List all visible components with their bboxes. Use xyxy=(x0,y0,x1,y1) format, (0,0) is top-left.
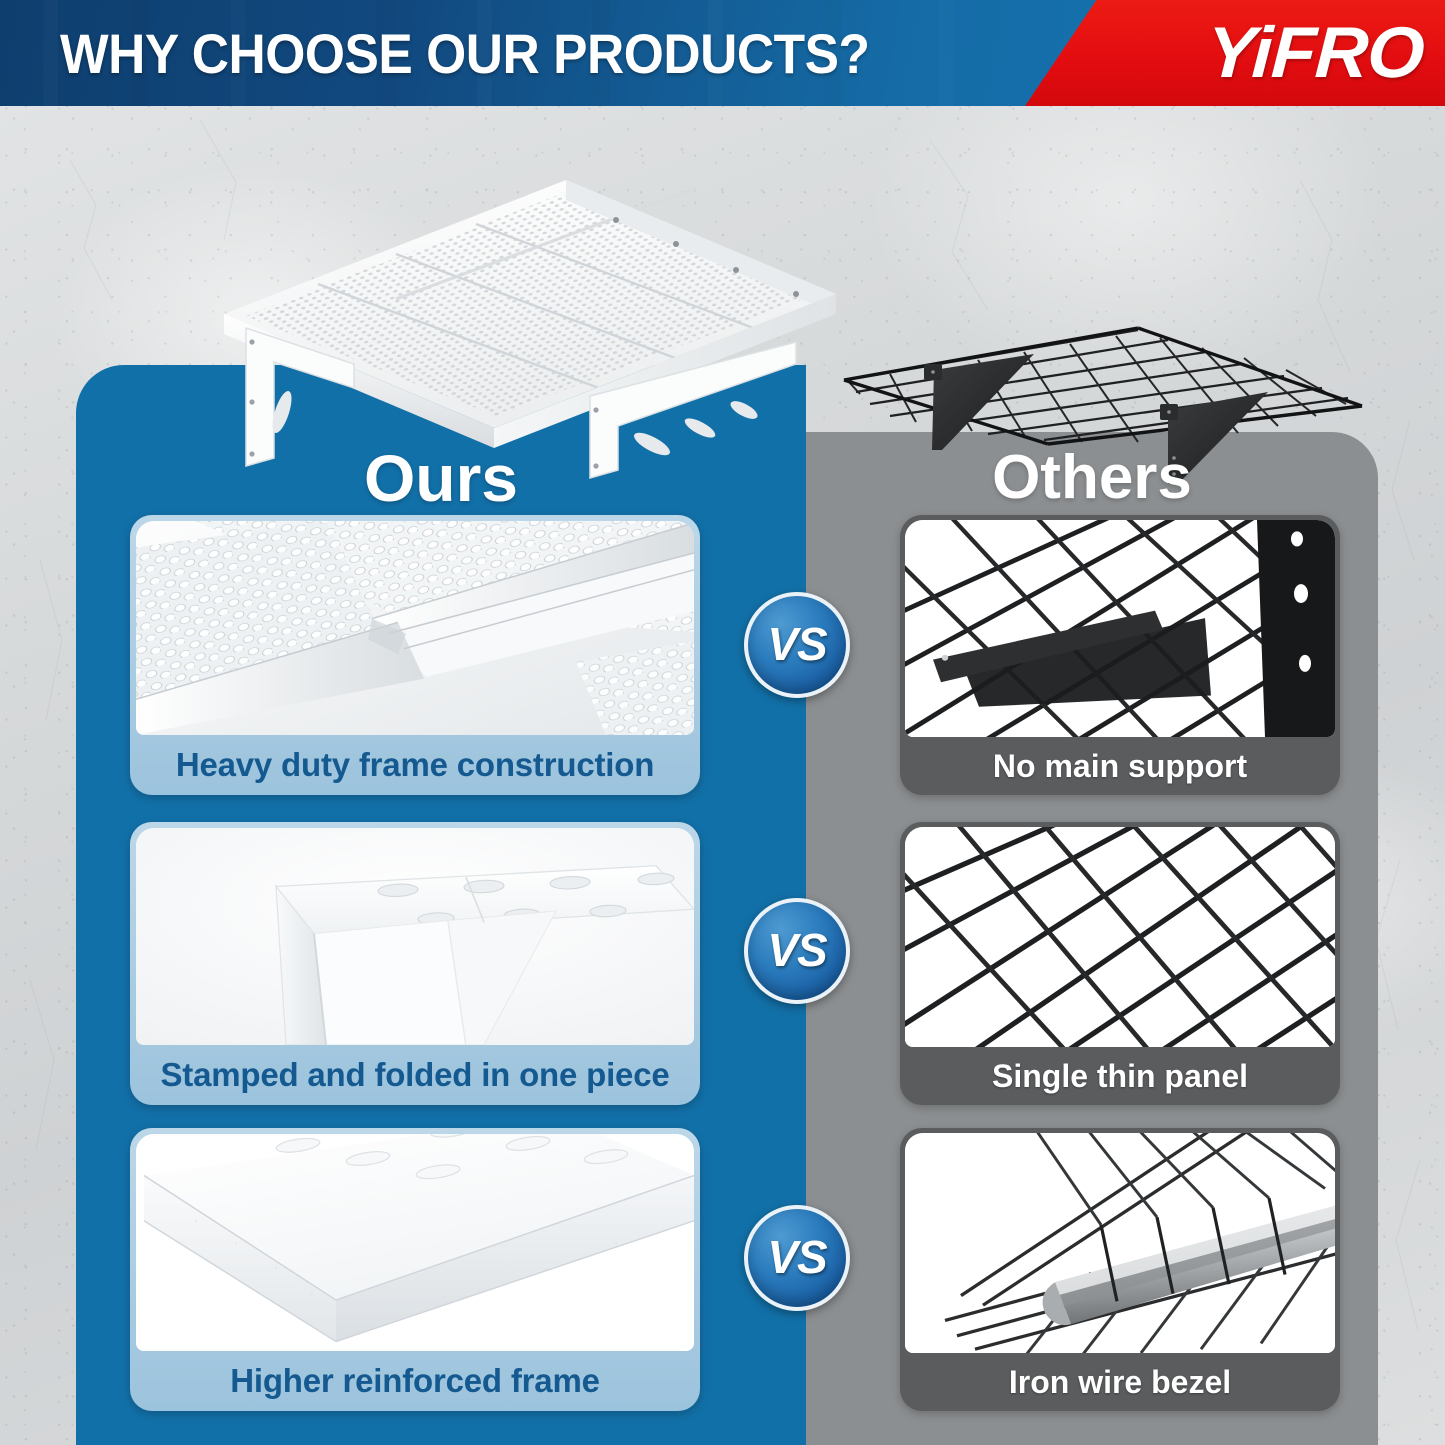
ours-feature-card-3[interactable]: Higher reinforced frame xyxy=(130,1128,700,1411)
vs-badge-label-3: VS xyxy=(767,1230,826,1284)
vs-badge-1: VS xyxy=(744,592,850,698)
others-feature-card-1[interactable]: No main support xyxy=(900,515,1340,795)
others-heading: Others xyxy=(806,442,1378,513)
others-feature-photo-3 xyxy=(905,1133,1335,1353)
vs-badge-2: VS xyxy=(744,898,850,1004)
others-feature-photo-1 xyxy=(905,520,1335,737)
ours-heading: Ours xyxy=(76,440,806,516)
ours-feature-caption-1: Heavy duty frame construction xyxy=(136,735,694,795)
others-feature-caption-3: Iron wire bezel xyxy=(905,1353,1335,1411)
ours-hero-image xyxy=(96,166,836,486)
ours-feature-card-1[interactable]: Heavy duty frame construction xyxy=(130,515,700,795)
ours-feature-photo-3 xyxy=(136,1134,694,1351)
ours-feature-photo-1 xyxy=(136,521,694,735)
vs-badge-3: VS xyxy=(744,1205,850,1311)
vs-badge-label-1: VS xyxy=(767,617,826,671)
others-feature-card-3[interactable]: Iron wire bezel xyxy=(900,1128,1340,1411)
ours-feature-card-2[interactable]: Stamped and folded in one piece xyxy=(130,822,700,1105)
others-feature-photo-2 xyxy=(905,827,1335,1047)
others-feature-card-2[interactable]: Single thin panel xyxy=(900,822,1340,1105)
header-banner: WHY CHOOSE OUR PRODUCTS? YiFRO xyxy=(0,0,1445,106)
brand-logo: YiFRO xyxy=(1204,0,1426,106)
ours-feature-photo-2 xyxy=(136,828,694,1045)
ours-feature-caption-2: Stamped and folded in one piece xyxy=(136,1045,694,1105)
ours-feature-caption-3: Higher reinforced frame xyxy=(136,1351,694,1411)
page-title: WHY CHOOSE OUR PRODUCTS? xyxy=(60,0,870,106)
vs-badge-label-2: VS xyxy=(767,923,826,977)
others-feature-caption-1: No main support xyxy=(905,737,1335,795)
others-feature-caption-2: Single thin panel xyxy=(905,1047,1335,1105)
